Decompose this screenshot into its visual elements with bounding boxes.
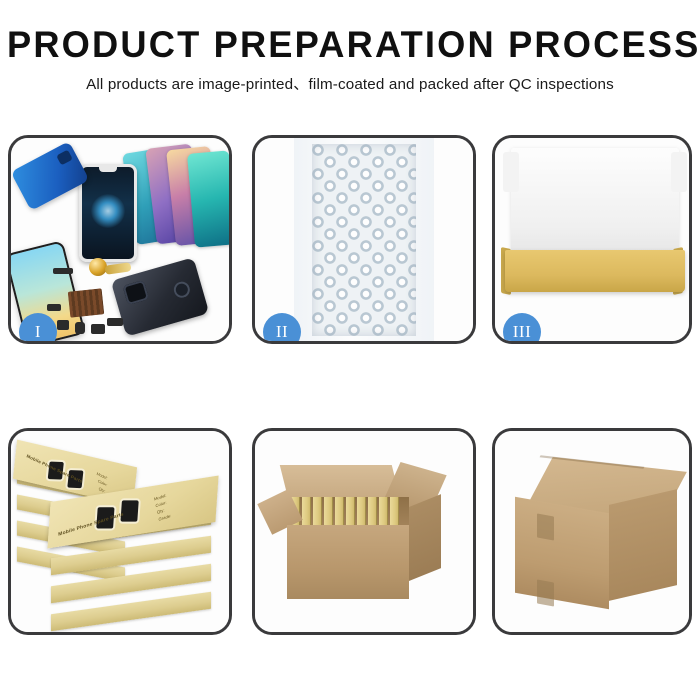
camera-module-icon xyxy=(105,262,132,275)
connector-icon xyxy=(107,318,123,326)
carton-tape-lower xyxy=(537,580,554,607)
panel-step-1[interactable]: I xyxy=(8,135,232,344)
open-shipping-carton xyxy=(273,459,445,609)
box-stack: Mobile Phone Spare Parts Model: Color: Q… xyxy=(15,447,227,623)
step-badge-3: III xyxy=(503,313,541,344)
phone-blue-panel xyxy=(11,141,90,211)
panel-step-3-image xyxy=(495,138,689,341)
box-brand-label: Mobile Phone Spare Parts xyxy=(58,512,124,538)
panel-step-4-image: Mobile Phone Spare Parts Model: Color: Q… xyxy=(11,431,229,632)
carton-tape-upper xyxy=(537,514,554,541)
page-subtitle: All products are image-printed、film-coat… xyxy=(0,77,700,92)
step-badge-2: II xyxy=(263,313,301,344)
box-brand-label: Mobile Phone Spare Parts xyxy=(26,454,83,485)
panel-step-6-image xyxy=(495,431,689,632)
sim-tray-icon xyxy=(47,304,61,311)
sealed-shipping-carton xyxy=(513,457,681,609)
panel-step-1-image xyxy=(11,138,229,341)
battery-icon xyxy=(75,322,85,334)
bubble-wrap-sheet xyxy=(312,144,416,336)
carton-front-face xyxy=(515,497,609,610)
panel-step-6[interactable]: VI xyxy=(492,428,692,635)
process-step-grid: I II III xyxy=(8,135,692,635)
panel-step-3[interactable]: III xyxy=(492,135,692,344)
logic-board-icon xyxy=(68,288,105,317)
phone-front-display xyxy=(79,164,137,262)
kraft-tray xyxy=(505,250,685,292)
flex-cable-icon xyxy=(53,268,73,274)
carton-side-face xyxy=(409,494,441,581)
page-title: PRODUCT PREPARATION PROCESS xyxy=(7,26,693,63)
step-badge-1: I xyxy=(19,313,57,344)
page-header: PRODUCT PREPARATION PROCESS All products… xyxy=(0,0,700,92)
speaker-icon xyxy=(57,320,69,330)
panel-step-5[interactable]: V xyxy=(252,428,476,635)
panel-step-2-image xyxy=(255,138,473,341)
panel-step-2[interactable]: II xyxy=(252,135,476,344)
phone-screen-d xyxy=(187,150,232,247)
panel-step-5-image xyxy=(255,431,473,632)
carton-front-face xyxy=(287,525,409,599)
vibrator-icon xyxy=(91,324,105,334)
white-box-lid xyxy=(511,148,679,260)
carton-side-face xyxy=(609,489,677,601)
panel-step-4[interactable]: Mobile Phone Spare Parts Model: Color: Q… xyxy=(8,428,232,635)
